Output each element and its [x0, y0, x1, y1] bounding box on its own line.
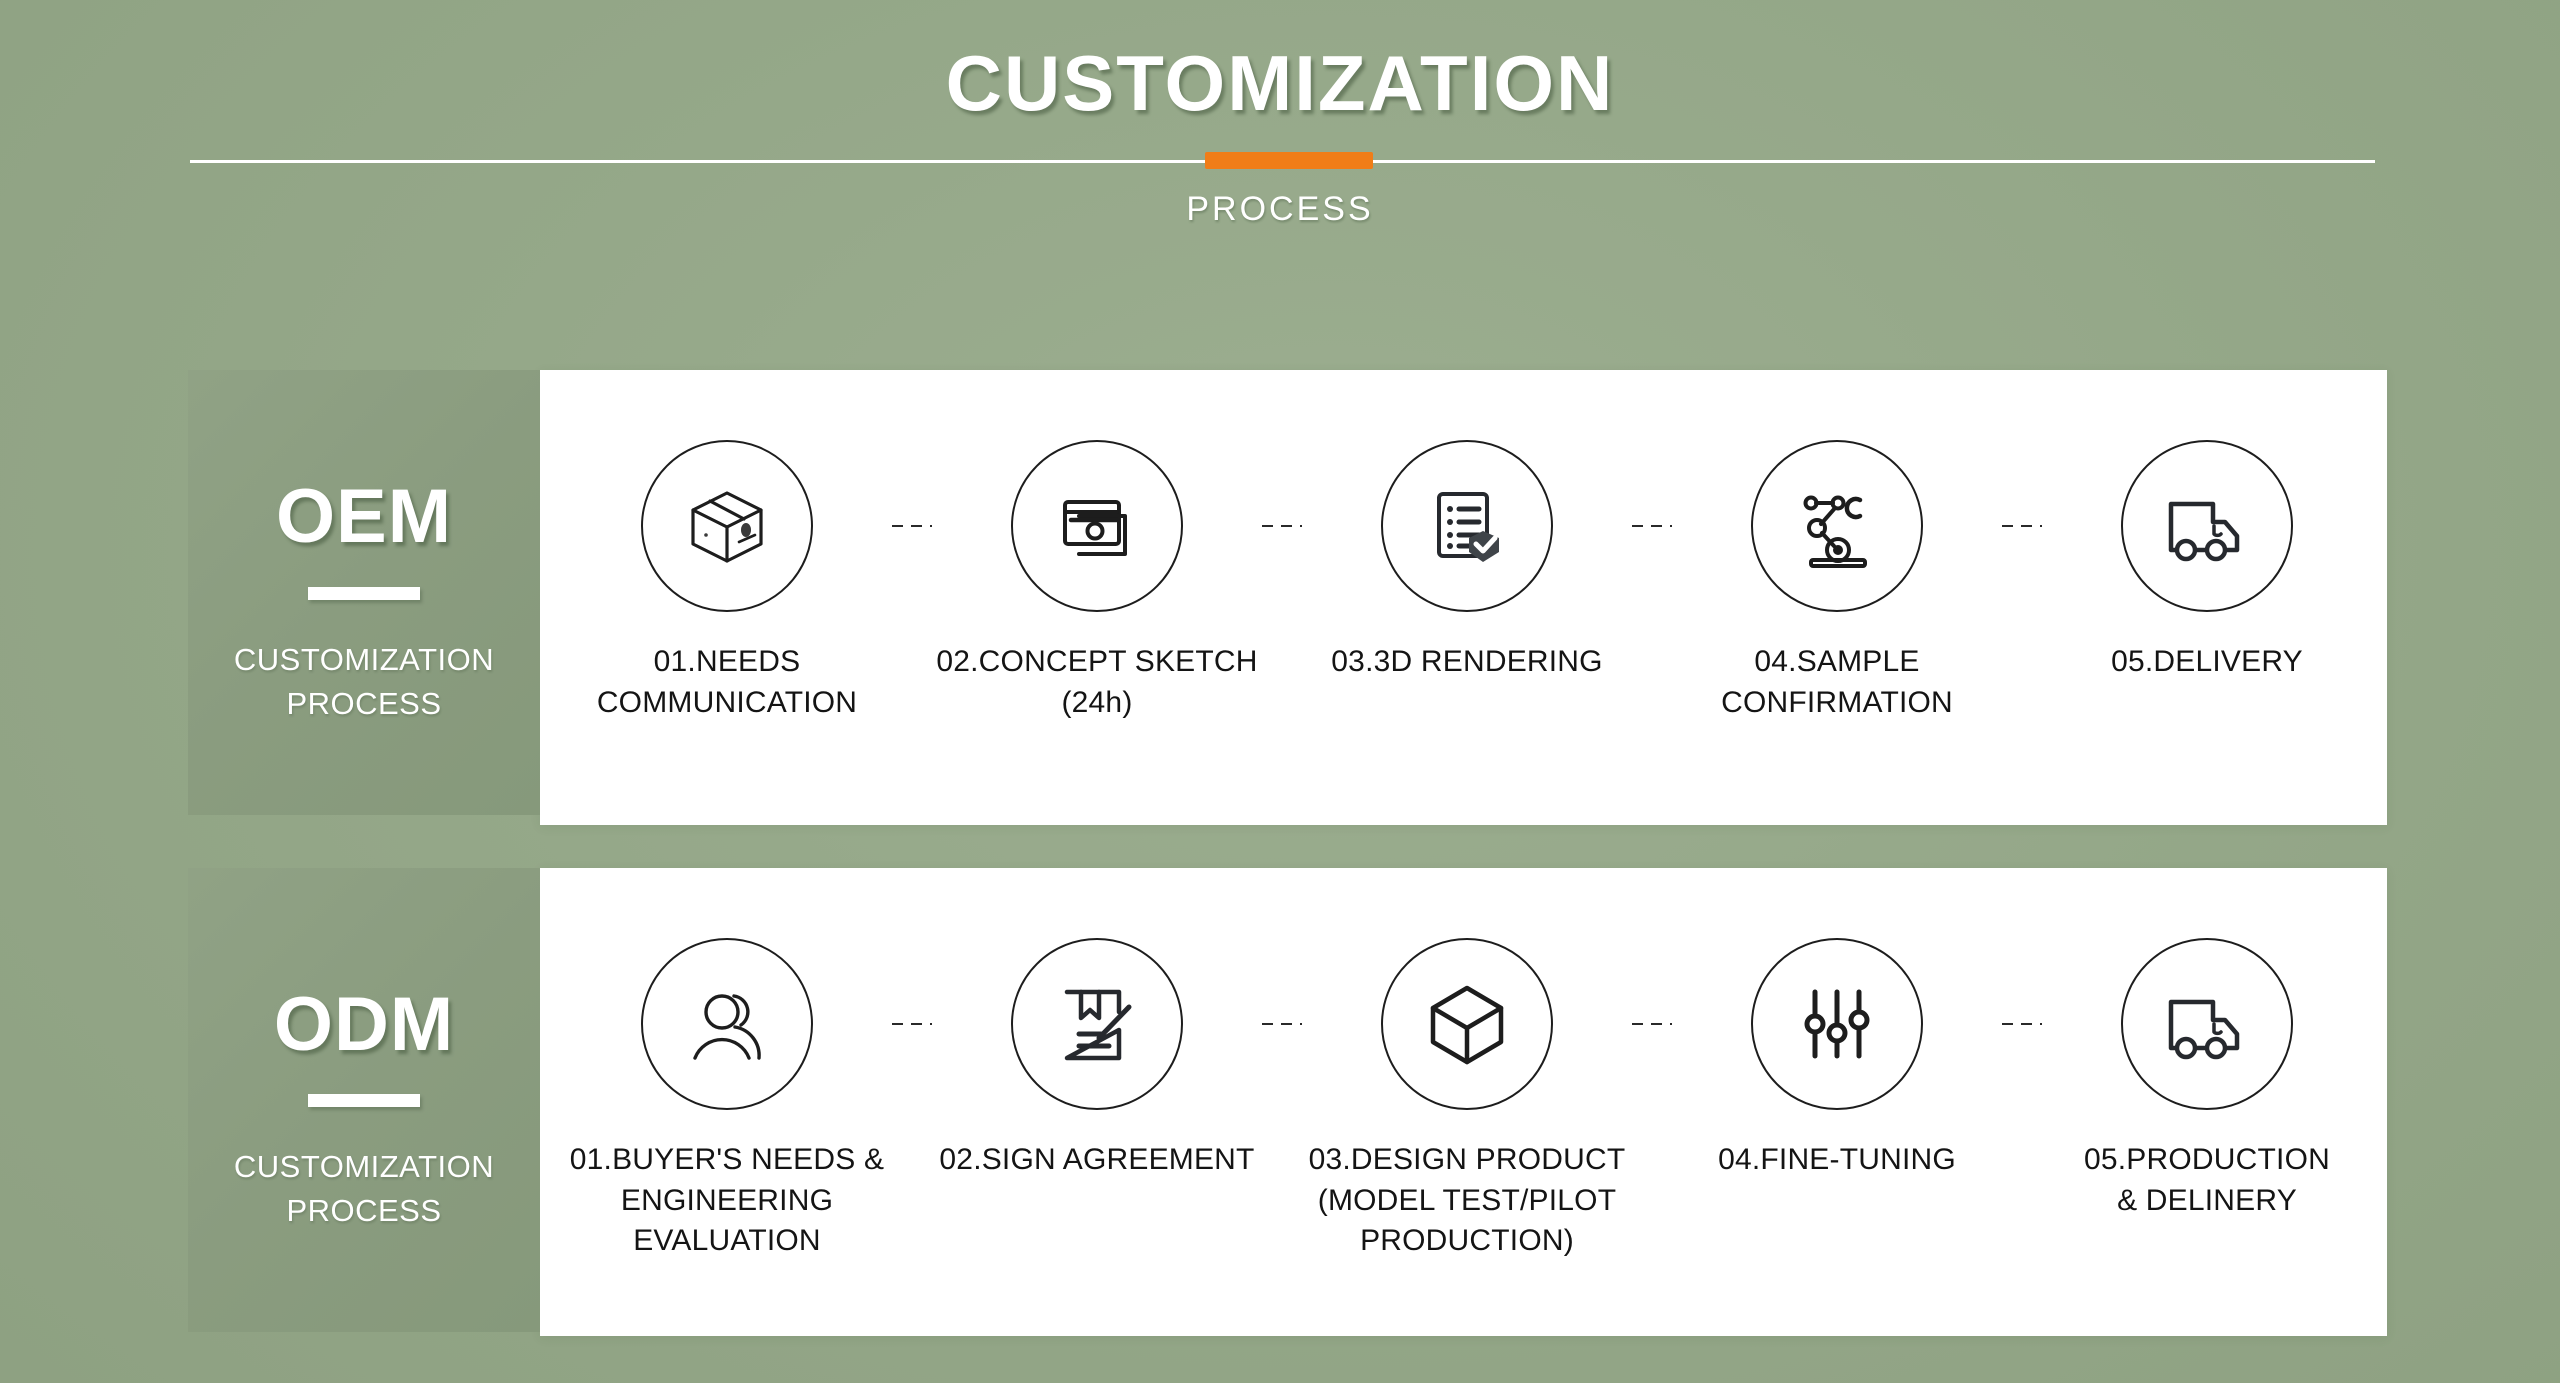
robot-arm-icon [1751, 440, 1923, 612]
row-label-panel-odm: ODM CUSTOMIZATION PROCESS [188, 868, 540, 1332]
row-subtitle-oem: CUSTOMIZATION PROCESS [234, 638, 494, 726]
step-label: 01.NEEDS COMMUNICATION [597, 642, 857, 723]
step-label: 05.DELIVERY [2111, 642, 2303, 683]
step-odm-1[interactable]: 01.BUYER'S NEEDS & ENGINEERING EVALUATIO… [562, 938, 892, 1262]
step-label: 03.3D RENDERING [1331, 642, 1602, 683]
two-people-icon [641, 938, 813, 1110]
step-label: 03.DESIGN PRODUCT (MODEL TEST/PILOT PROD… [1309, 1140, 1626, 1262]
step-label: 02.SIGN AGREEMENT [939, 1140, 1254, 1181]
sketch-cards-icon [1011, 440, 1183, 612]
step-connector [892, 525, 932, 527]
row-title-oem: OEM [276, 477, 452, 557]
step-odm-5[interactable]: 05.PRODUCTION & DELINERY [2042, 938, 2372, 1221]
steps-panel-oem: 01.NEEDS COMMUNICATION 02.CONCEPT SKETCH… [540, 370, 2387, 825]
step-oem-5[interactable]: 05.DELIVERY [2042, 440, 2372, 683]
row-label-panel-oem: OEM CUSTOMIZATION PROCESS [188, 370, 540, 815]
row-title-divider [308, 1094, 420, 1107]
step-connector [1262, 525, 1302, 527]
step-oem-4[interactable]: 04.SAMPLE CONFIRMATION [1672, 440, 2002, 723]
step-odm-4[interactable]: 04.FINE-TUNING [1672, 938, 2002, 1181]
page-header: CUSTOMIZATION PROCESS [0, 0, 2560, 300]
step-oem-3[interactable]: 03.3D RENDERING [1302, 440, 1632, 683]
package-box-icon [641, 440, 813, 612]
step-oem-2[interactable]: 02.CONCEPT SKETCH (24h) [932, 440, 1262, 723]
row-title-odm: ODM [274, 985, 454, 1065]
steps-panel-odm: 01.BUYER'S NEEDS & ENGINEERING EVALUATIO… [540, 868, 2387, 1336]
page-subtitle: PROCESS [0, 190, 2560, 229]
step-label: 04.SAMPLE CONFIRMATION [1672, 642, 2002, 723]
row-subtitle-odm: CUSTOMIZATION PROCESS [234, 1145, 494, 1233]
signed-document-icon [1011, 938, 1183, 1110]
step-connector [1632, 525, 1672, 527]
step-connector [1262, 1023, 1302, 1025]
delivery-truck-icon [2121, 440, 2293, 612]
step-label: 05.PRODUCTION & DELINERY [2084, 1140, 2330, 1221]
step-connector [2002, 525, 2042, 527]
step-oem-1[interactable]: 01.NEEDS COMMUNICATION [562, 440, 892, 723]
process-row-oem: OEM CUSTOMIZATION PROCESS 01.NEEDS COMMU… [188, 370, 2387, 825]
row-title-divider [308, 587, 420, 600]
checklist-approved-icon [1381, 440, 1553, 612]
step-label: 02.CONCEPT SKETCH (24h) [932, 642, 1262, 723]
page-title: CUSTOMIZATION [0, 38, 2560, 129]
step-odm-2[interactable]: 02.SIGN AGREEMENT [932, 938, 1262, 1181]
step-connector [892, 1023, 932, 1025]
sliders-icon [1751, 938, 1923, 1110]
step-connector [2002, 1023, 2042, 1025]
step-label: 04.FINE-TUNING [1718, 1140, 1956, 1181]
step-connector [1632, 1023, 1672, 1025]
process-row-odm: ODM CUSTOMIZATION PROCESS 01.BUYER'S NEE… [188, 868, 2387, 1336]
step-label: 01.BUYER'S NEEDS & ENGINEERING EVALUATIO… [562, 1140, 892, 1262]
title-accent-bar [1205, 152, 1373, 169]
cube-3d-icon [1381, 938, 1553, 1110]
step-odm-3[interactable]: 03.DESIGN PRODUCT (MODEL TEST/PILOT PROD… [1302, 938, 1632, 1262]
delivery-truck-icon [2121, 938, 2293, 1110]
